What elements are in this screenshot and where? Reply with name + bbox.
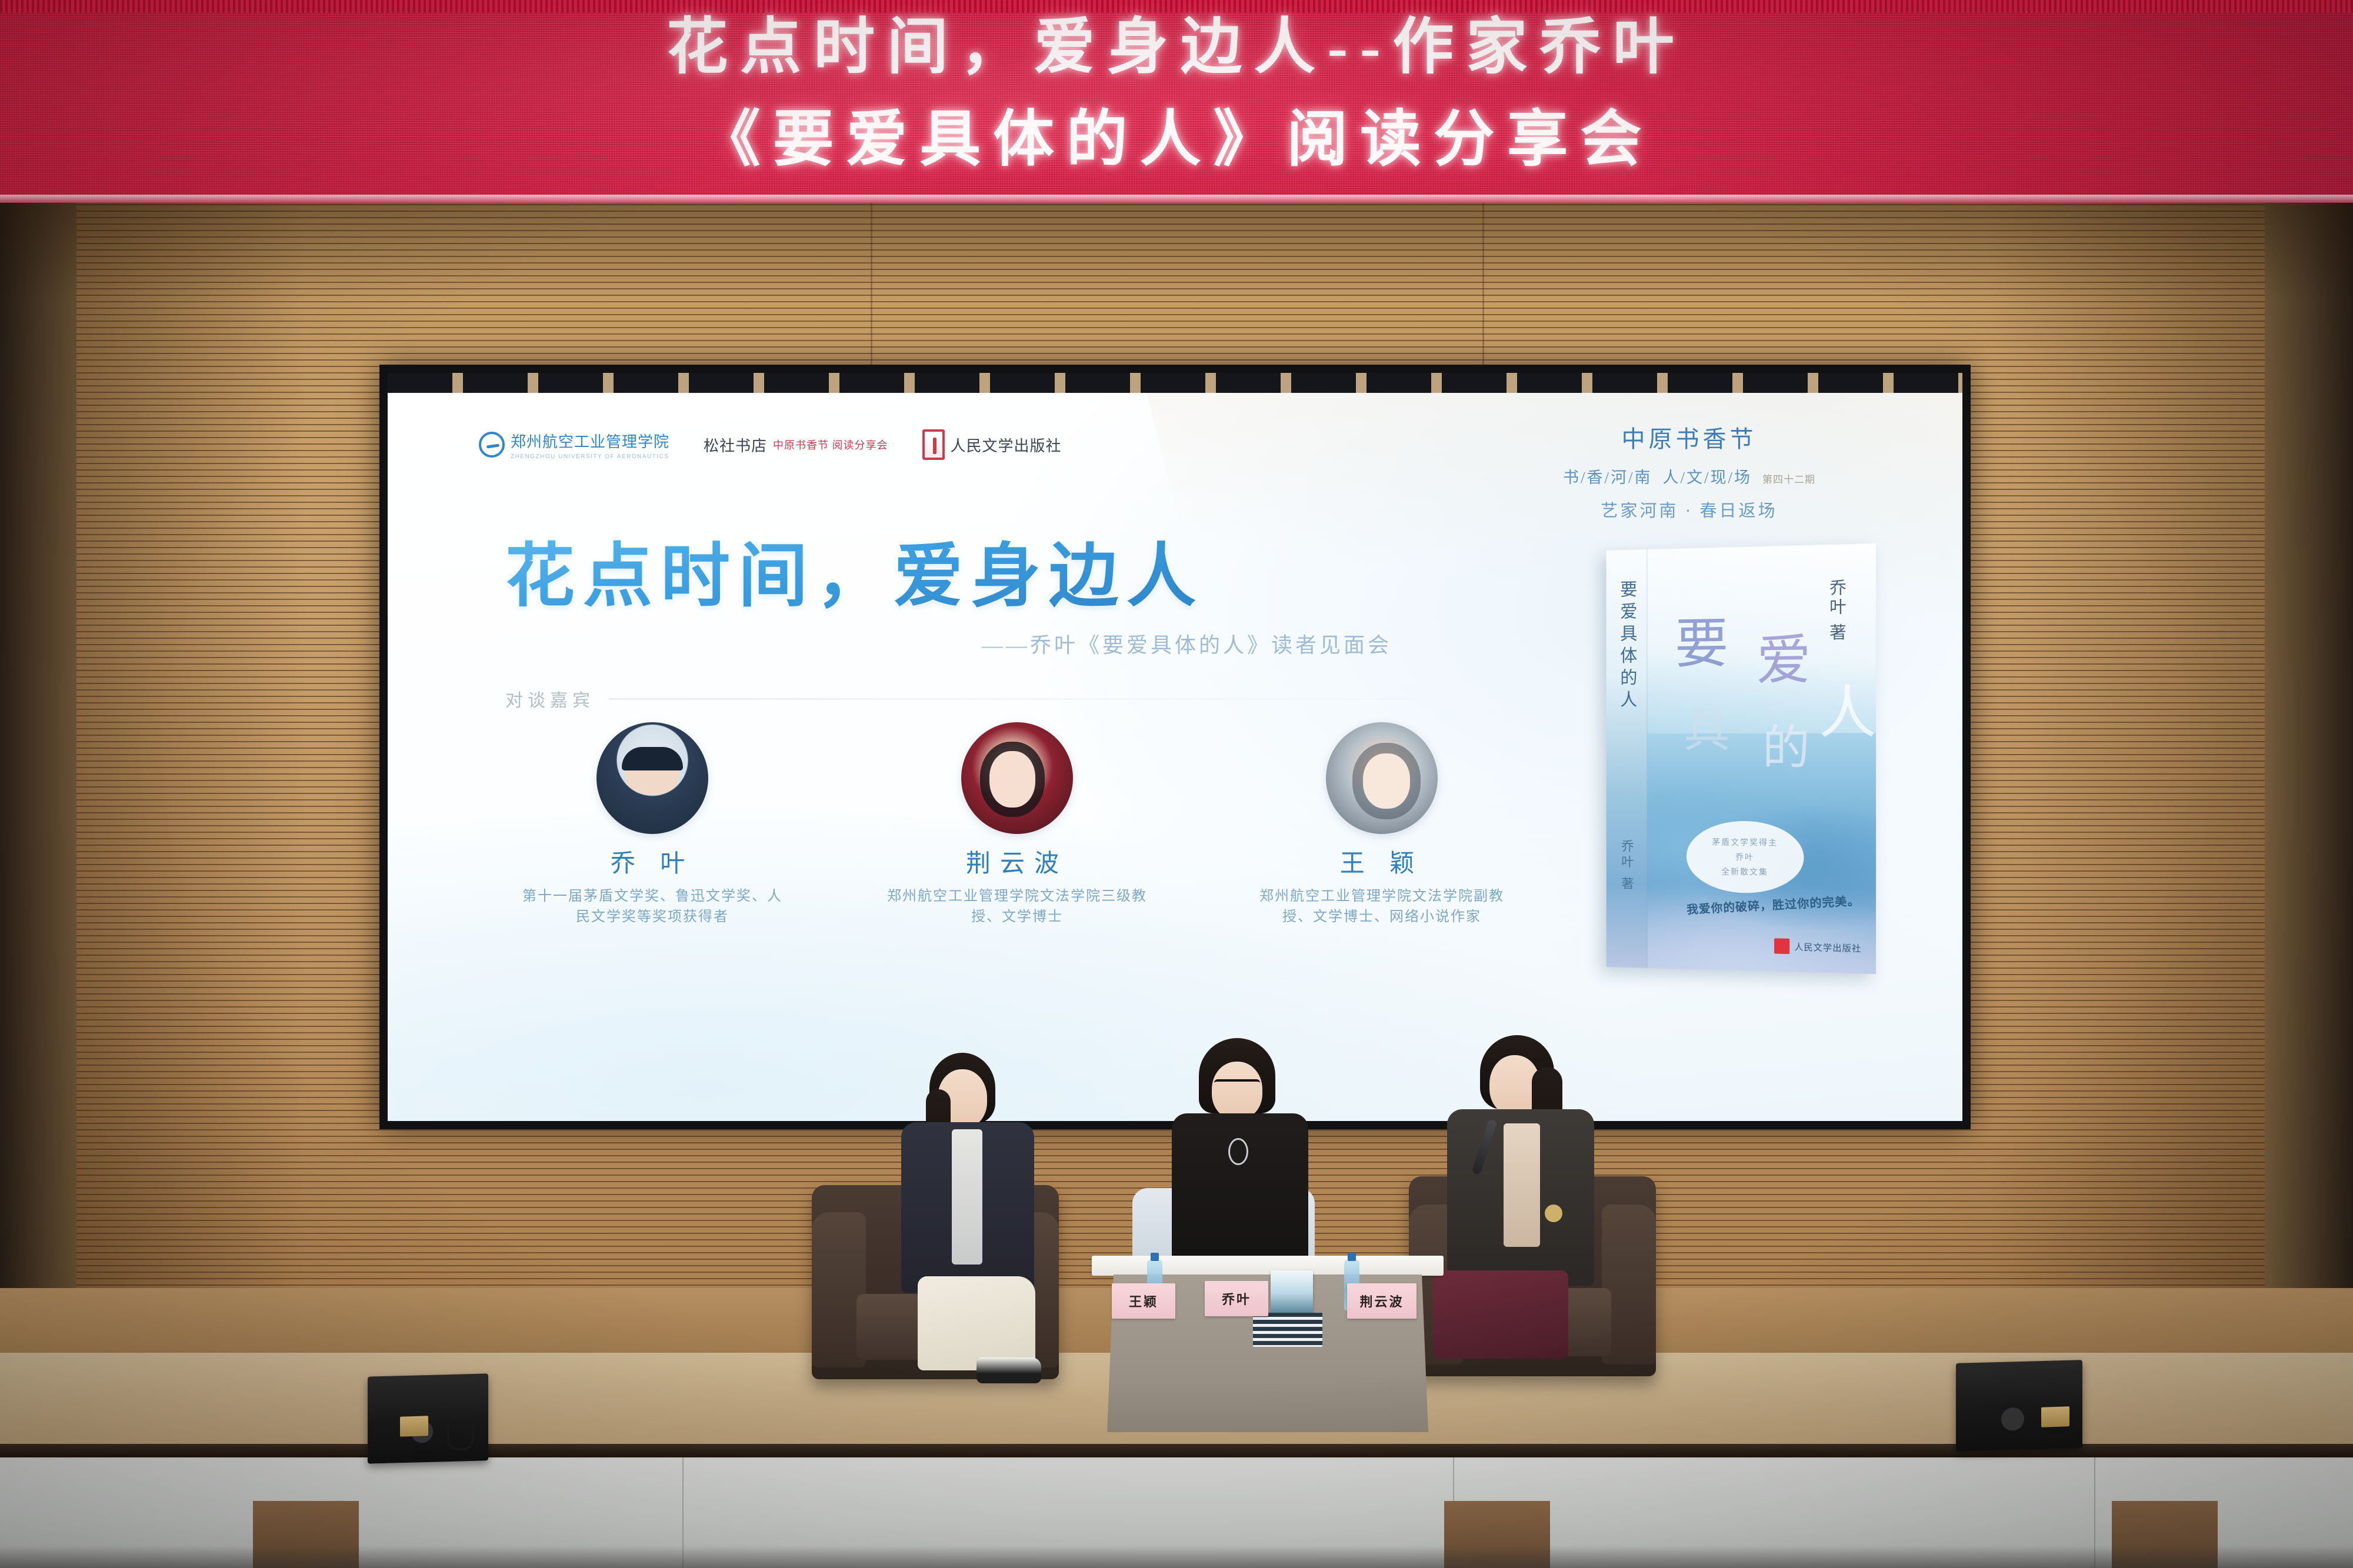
book-cover-char: 的: [1762, 725, 1812, 772]
speaker-plate-right: [2041, 1406, 2069, 1427]
book-cover-char: 要: [1675, 616, 1731, 671]
book-stack: [1253, 1313, 1322, 1347]
badge-line: 全新散文集: [1721, 866, 1768, 878]
portrait-qiao-ye-icon: [596, 722, 708, 834]
publisher-seal-icon: [1774, 938, 1789, 954]
name-placard-right: 荆云波: [1347, 1283, 1417, 1319]
presentation-slide: 郑州航空工业管理学院 ZHENGZHOU UNIVERSITY OF AERON…: [388, 393, 1962, 1121]
necklace: [1228, 1138, 1248, 1165]
festival-sub-1: 书/香/河/南: [1563, 465, 1652, 488]
glasses-icon: [1214, 1079, 1260, 1090]
portrait-jing-yunbo-icon: [961, 722, 1073, 834]
apron-bottom-shadow: [0, 1546, 2353, 1568]
guest-row: 乔 叶 第十一届茅盾文学奖、鲁迅文学奖、人民文学奖等奖项获得者 荆云波 郑州航空…: [470, 722, 1564, 928]
banner-line-2: 《要爱具体的人》阅读分享会: [0, 96, 2353, 184]
speaker-plate-left: [400, 1416, 428, 1437]
festival-title: 中原书香节: [1563, 420, 1815, 454]
ceiling-shadow: [0, 200, 2353, 300]
book-cover-char: 具: [1684, 708, 1732, 755]
table-top: [1092, 1256, 1444, 1276]
logo-name: 人民文学出版社: [951, 434, 1062, 456]
book-spine: 要爱具体的人 乔叶 著: [1607, 549, 1648, 968]
logo-subtitle: ZHENGZHOU UNIVERSITY OF AERONAUTICS: [511, 453, 669, 460]
speaker-cone-icon: [2001, 1407, 2024, 1431]
logo-peoples-literature-press: 人民文学出版社: [922, 429, 1062, 460]
book-spine-title: 要爱具体的人: [1614, 580, 1639, 712]
festival-sub-2: 人/文/现/场: [1662, 465, 1752, 488]
head: [1212, 1062, 1262, 1119]
banner-line-1: 花点时间，爱身边人--作家乔叶: [0, 4, 2353, 92]
logo-songshe-bookstore: 松社书店 中原书香节 阅读分享会: [704, 434, 888, 456]
book-spine-author: 乔叶 著: [1617, 839, 1635, 892]
guest-name: 乔 叶: [499, 843, 805, 879]
guest-card: 荆云波 郑州航空工业管理学院文法学院三级教授、文学博士: [864, 722, 1170, 928]
book-cover-char: 人: [1819, 685, 1876, 742]
logo-name: 郑州航空工业管理学院: [511, 430, 669, 452]
festival-sub-row: 书/香/河/南 人/文/现/场 第四十二期: [1563, 465, 1815, 488]
name-placard-left: 王颖: [1112, 1283, 1175, 1319]
portrait-wang-ying-icon: [1326, 722, 1438, 834]
projection-screen: 郑州航空工业管理学院 ZHENGZHOU UNIVERSITY OF AERON…: [379, 365, 1971, 1129]
book-cover: 要 爱 具 的 人 乔叶 著 茅盾文学奖得主 乔叶 全新散文集 我爱你的破碎，胜…: [1607, 543, 1876, 974]
placard-label: 王颖: [1129, 1292, 1158, 1310]
book-cover-publisher: 人民文学出版社: [1774, 938, 1861, 956]
slide-subtitle: ——乔叶《要爱具体的人》读者见面会: [982, 628, 1392, 659]
heading-rule: [609, 699, 1505, 699]
festival-block: 中原书香节 书/香/河/南 人/文/现/场 第四十二期 艺家河南 · 春日返场: [1563, 420, 1815, 522]
logo-name: 松社书店: [704, 434, 767, 456]
badge-line: 乔叶: [1735, 851, 1754, 863]
guest-bio: 郑州航空工业管理学院文法学院三级教授、文学博士: [864, 886, 1170, 928]
guest-bio: 第十一届茅盾文学奖、鲁迅文学奖、人民文学奖等奖项获得者: [499, 886, 805, 928]
guest-bio: 郑州航空工业管理学院文法学院副教授、文学博士、网络小说作家: [1229, 886, 1535, 928]
screen-top-vents: [388, 373, 1962, 393]
guests-heading-wrap: 对谈嘉宾: [505, 686, 1505, 712]
book-cover-author: 乔叶 著: [1824, 579, 1848, 643]
shirt: [952, 1129, 982, 1265]
logo-zzu-aeronautics: 郑州航空工业管理学院 ZHENGZHOU UNIVERSITY OF AERON…: [479, 430, 669, 460]
wall-wing-right: [2265, 200, 2353, 1376]
slide-title: 花点时间，爱身边人: [505, 519, 1204, 620]
guest-card: 乔 叶 第十一届茅盾文学奖、鲁迅文学奖、人民文学奖等奖项获得者: [499, 722, 805, 928]
led-banner: 花点时间，爱身边人--作家乔叶 《要爱具体的人》阅读分享会: [0, 0, 2353, 203]
festival-sub-3: 艺家河南 · 春日返场: [1563, 497, 1815, 522]
badge-line: 茅盾文学奖得主: [1712, 836, 1778, 849]
brooch-icon: [1545, 1205, 1562, 1222]
person-speaker-left: [876, 1053, 1071, 1388]
placard-label: 乔叶: [1222, 1289, 1251, 1308]
speaker-cable-left: [447, 1416, 474, 1450]
circle-seal-logo-icon: [479, 432, 505, 458]
legs: [918, 1276, 1035, 1370]
book-cover-char: 爱: [1757, 633, 1814, 688]
guest-name: 荆云波: [864, 843, 1170, 879]
festival-issue-number: 第四十二期: [1762, 471, 1815, 486]
person-speaker-right: [1424, 1035, 1635, 1388]
wall-wing-left: [0, 200, 76, 1376]
legs: [1433, 1270, 1568, 1359]
guest-name: 王 颖: [1229, 843, 1535, 879]
red-box-logo-icon: [922, 429, 945, 460]
guest-card: 王 颖 郑州航空工业管理学院文法学院副教授、文学博士、网络小说作家: [1229, 722, 1535, 928]
logo-subtitle: 中原书香节 阅读分享会: [773, 437, 888, 452]
name-placard-center: 乔叶: [1205, 1281, 1268, 1316]
publisher-name: 人民文学出版社: [1794, 940, 1861, 955]
slide-logo-row: 郑州航空工业管理学院 ZHENGZHOU UNIVERSITY OF AERON…: [479, 429, 1062, 460]
guests-heading: 对谈嘉宾: [505, 686, 595, 712]
auditorium-photo: 花点时间，爱身边人--作家乔叶 《要爱具体的人》阅读分享会 郑州航空工业管理学院…: [0, 0, 2353, 1568]
shoes: [976, 1357, 1041, 1383]
stage-monitor-speaker-right: [1956, 1360, 2082, 1452]
inner-top: [1504, 1123, 1540, 1247]
placard-label: 荆云波: [1359, 1292, 1404, 1310]
